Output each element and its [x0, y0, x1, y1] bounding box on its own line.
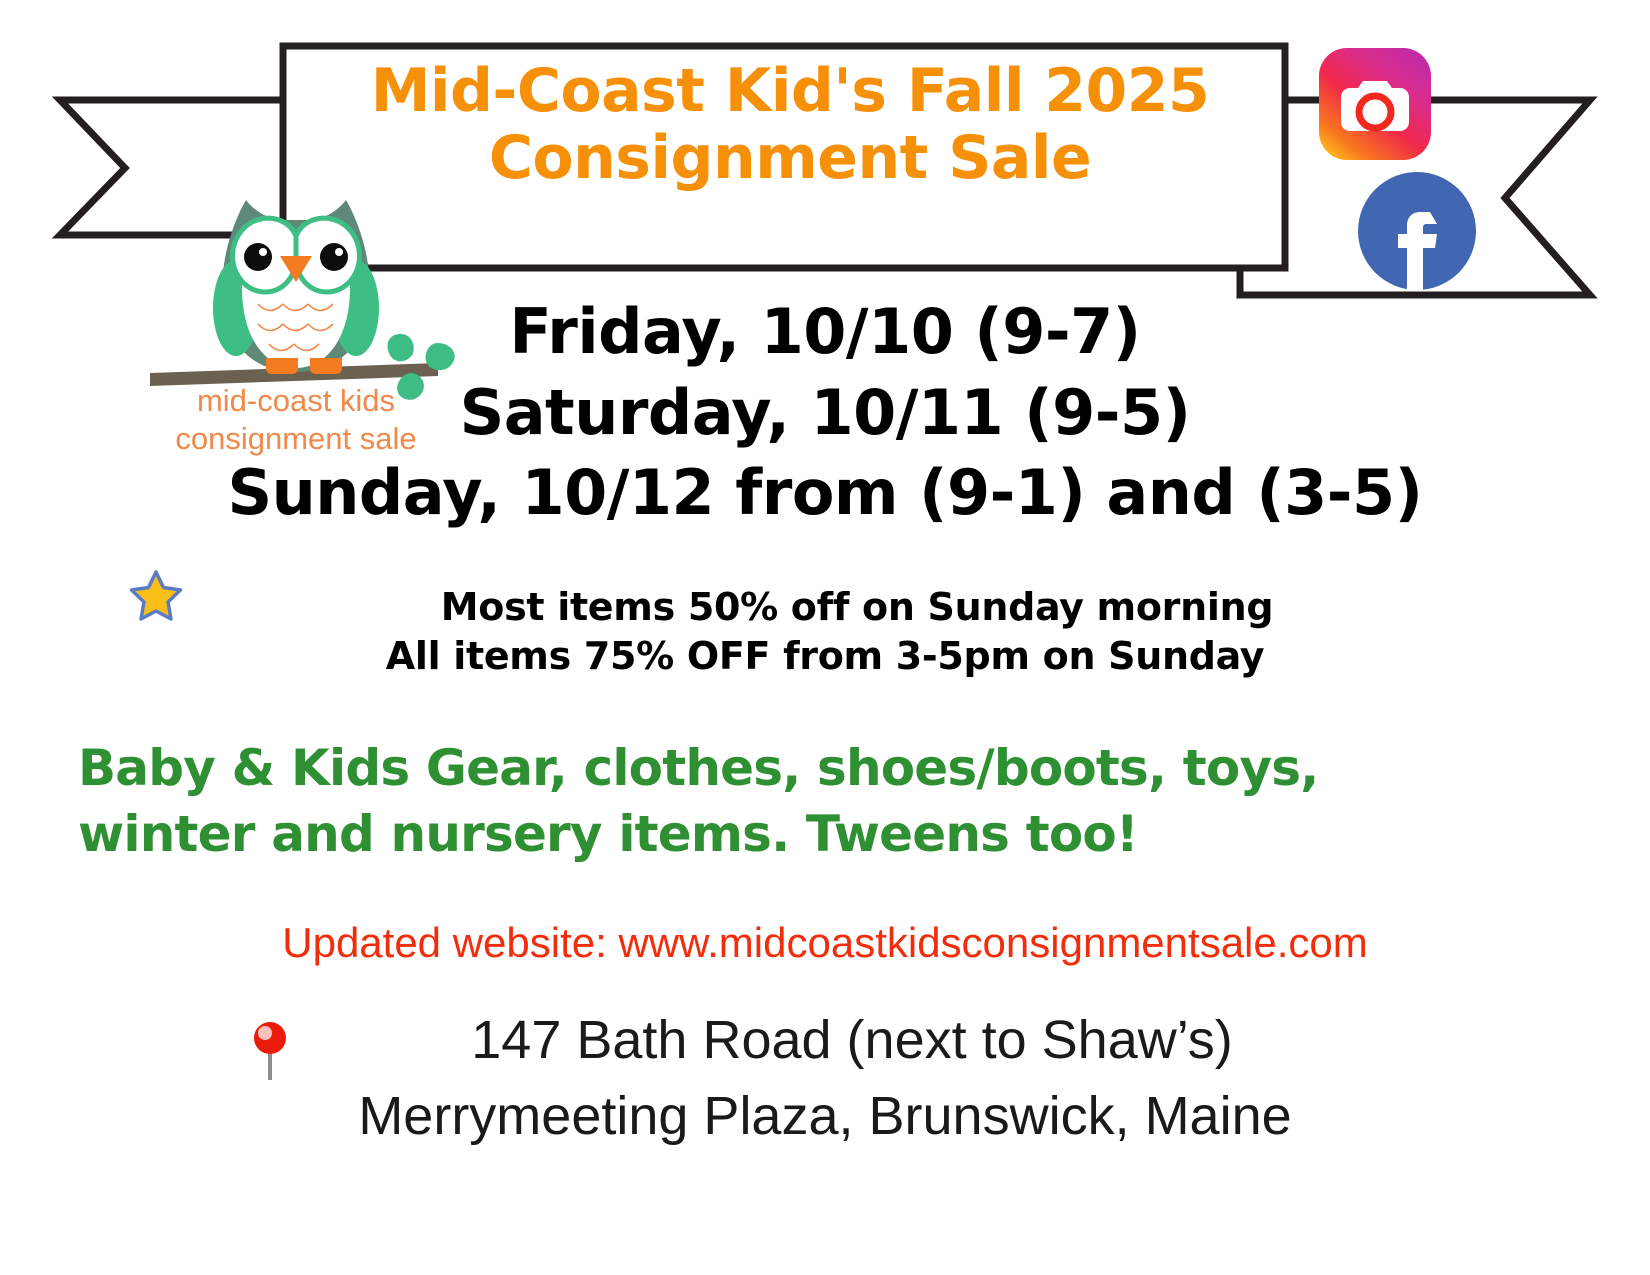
address: 147 Bath Road (next to Shaw’s) Merrymeet… — [0, 1003, 1650, 1154]
category-line-1: Baby & Kids Gear, clothes, shoes/boots, … — [78, 735, 1572, 801]
owl-pupil-left-glint — [259, 248, 267, 256]
owl-pupil-right-glint — [335, 248, 343, 256]
owl-pupil-left — [244, 243, 272, 271]
item-categories: Baby & Kids Gear, clothes, shoes/boots, … — [78, 735, 1572, 867]
website-link[interactable]: Updated website: www.midcoastkidsconsign… — [0, 918, 1650, 968]
discount-info: Most items 50% off on Sunday morning All… — [0, 583, 1650, 682]
instagram-icon[interactable] — [1319, 48, 1431, 160]
title-line-1: Mid-Coast Kid's Fall 2025 — [300, 58, 1280, 125]
discount-line-1: Most items 50% off on Sunday morning — [0, 583, 1650, 632]
facebook-icon[interactable] — [1358, 172, 1476, 290]
date-line-sunday: Sunday, 10/12 from (9-1) and (3-5) — [0, 453, 1650, 534]
owl-pupil-right — [320, 243, 348, 271]
leaf-1 — [384, 330, 417, 364]
address-line-1: 147 Bath Road (next to Shaw’s) — [0, 1003, 1650, 1079]
camera-flash — [1389, 90, 1401, 98]
category-line-2: winter and nursery items. Tweens too! — [78, 801, 1572, 867]
owl-foot-left — [266, 358, 298, 374]
address-line-2: Merrymeeting Plaza, Brunswick, Maine — [0, 1079, 1650, 1155]
logo-text-line-2: consignment sale — [175, 421, 416, 456]
camera-body — [1341, 81, 1409, 131]
discount-line-2: All items 75% OFF from 3-5pm on Sunday — [0, 632, 1650, 681]
owl-foot-right — [310, 358, 342, 374]
owl-logo: mid-coast kids consignment sale — [138, 158, 468, 458]
logo-text-line-1: mid-coast kids — [197, 383, 395, 418]
website-row: Updated website: www.midcoastkidsconsign… — [0, 918, 1650, 968]
